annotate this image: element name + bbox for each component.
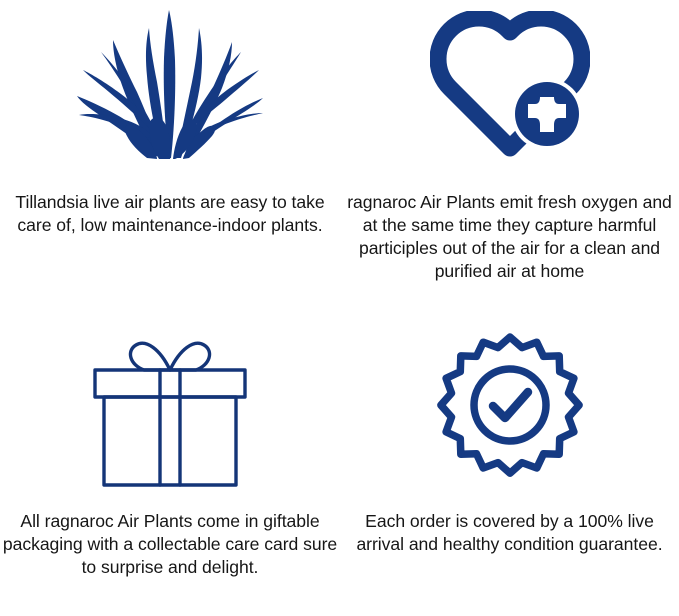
feature-card-oxygen: ragnaroc Air Plants emit fresh oxygen an… bbox=[340, 0, 679, 308]
feature-caption-guarantee: Each order is covered by a 100% live arr… bbox=[345, 510, 675, 556]
feature-card-guarantee: Each order is covered by a 100% live arr… bbox=[340, 308, 679, 616]
air-plant-icon bbox=[0, 0, 340, 170]
feature-grid: Tillandsia live air plants are easy to t… bbox=[0, 0, 679, 616]
feature-card-gift: All ragnaroc Air Plants come in giftable… bbox=[0, 308, 340, 616]
feature-caption-gift: All ragnaroc Air Plants come in giftable… bbox=[2, 510, 338, 579]
heart-plus-icon bbox=[340, 0, 679, 170]
gift-box-icon bbox=[0, 308, 340, 508]
feature-card-care: Tillandsia live air plants are easy to t… bbox=[0, 0, 340, 308]
feature-caption-care: Tillandsia live air plants are easy to t… bbox=[5, 191, 335, 237]
verified-badge-icon bbox=[340, 308, 679, 508]
feature-caption-oxygen: ragnaroc Air Plants emit fresh oxygen an… bbox=[347, 191, 673, 283]
